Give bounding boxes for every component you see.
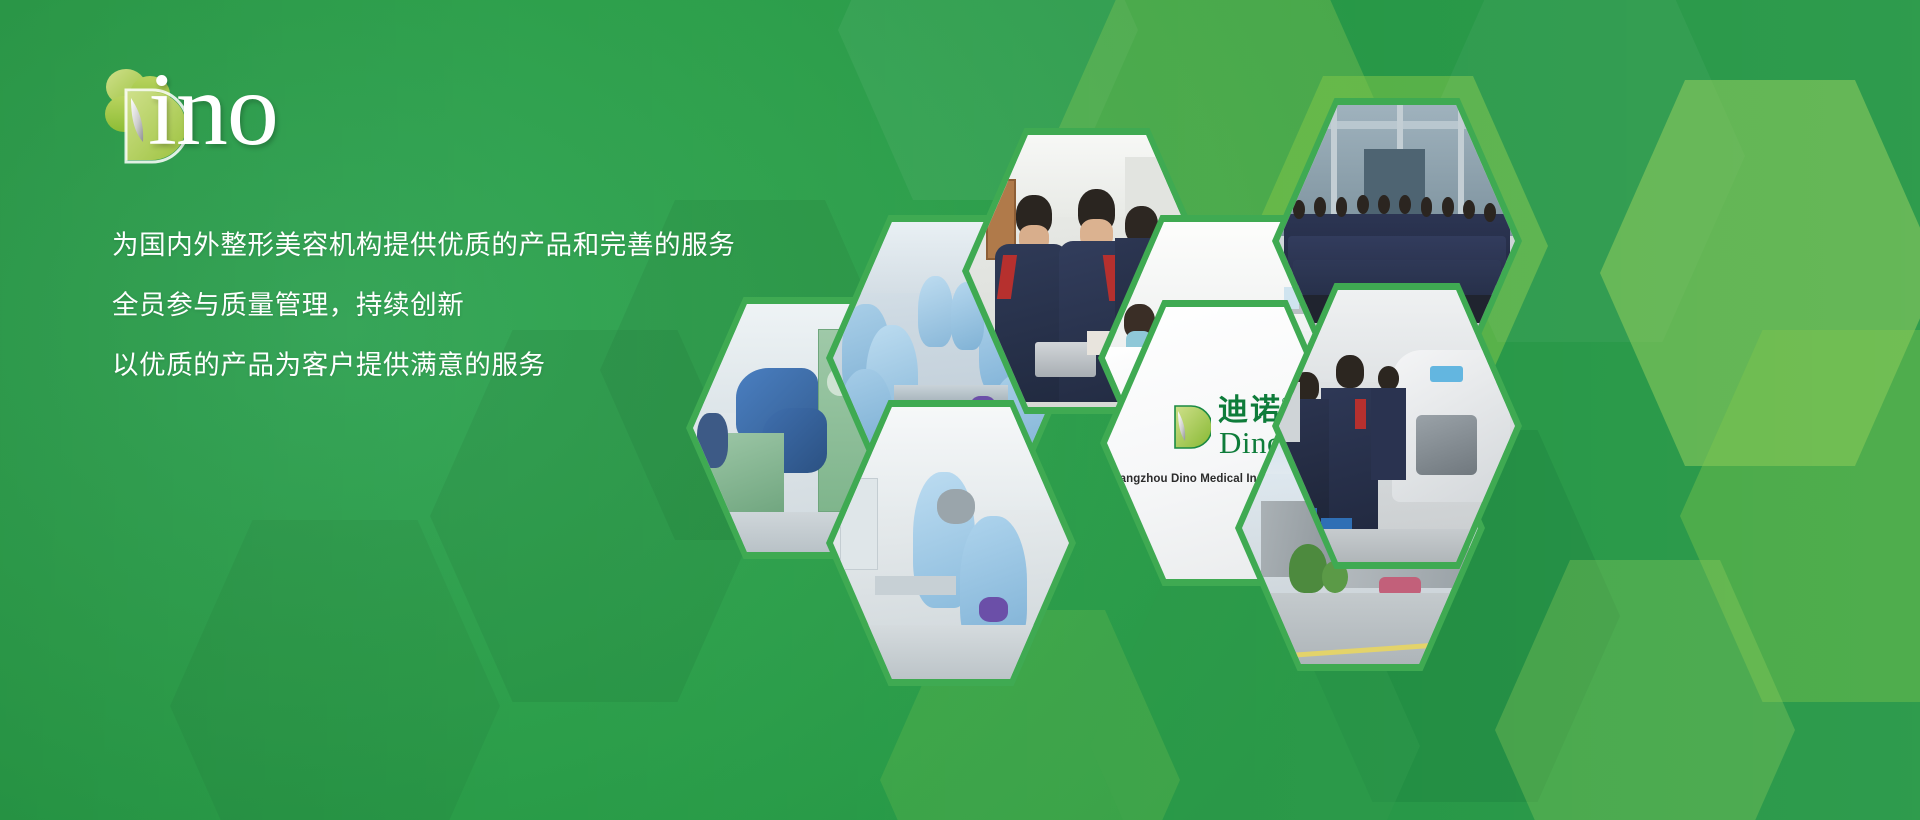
brand-wordmark: ino xyxy=(148,58,278,162)
hexagon-logo-cn-name: 迪诺® xyxy=(1218,396,1282,426)
tagline-line-3: 以优质的产品为客户提供满意的服务 xyxy=(112,352,852,380)
tagline-line-1: 为国内外整形美容机构提供优质的产品和完善的服务 xyxy=(112,232,852,260)
cn-name-text: 迪诺 xyxy=(1218,393,1282,428)
hexagon-logo-lockup: 迪诺® Dino xyxy=(1167,396,1283,458)
cnc-machining-image xyxy=(1279,290,1515,562)
tagline-line-2: 全员参与质量管理，持续创新 xyxy=(112,292,852,320)
company-banner: ino 为国内外整形美容机构提供优质的产品和完善的服务 全员参与质量管理，持续创… xyxy=(0,0,1920,820)
brand-logo: ino xyxy=(100,62,852,166)
dino-leaf-logo-icon xyxy=(1167,403,1211,451)
tagline-list: 为国内外整形美容机构提供优质的产品和完善的服务 全员参与质量管理，持续创新 以优… xyxy=(112,232,852,379)
sterile-room-image xyxy=(833,407,1069,679)
hero-text-block: ino 为国内外整形美容机构提供优质的产品和完善的服务 全员参与质量管理，持续创… xyxy=(92,62,852,379)
